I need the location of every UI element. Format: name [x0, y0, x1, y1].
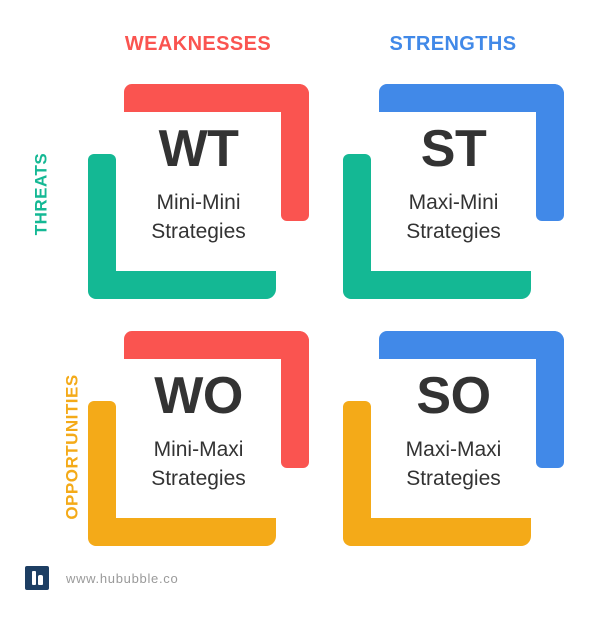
quadrant-content: WO Mini-Maxi Strategies: [84, 367, 313, 493]
quadrant-description: Maxi-Mini Strategies: [339, 188, 568, 246]
tows-matrix-diagram: WEAKNESSES STRENGTHS THREATS OPPORTUNITI…: [0, 0, 600, 619]
quadrant-wt: WT Mini-Mini Strategies: [84, 76, 313, 305]
quadrant-description-line1: Mini-Maxi: [84, 435, 313, 464]
quadrant-code: SO: [339, 367, 568, 425]
footer: www.hububble.co: [25, 566, 178, 590]
quadrant-description-line1: Maxi-Mini: [339, 188, 568, 217]
quadrant-description-line1: Maxi-Maxi: [339, 435, 568, 464]
quadrant-description-line1: Mini-Mini: [84, 188, 313, 217]
quadrant-content: WT Mini-Mini Strategies: [84, 120, 313, 246]
logo-bar-tall: [32, 571, 36, 585]
quadrant-code: ST: [339, 120, 568, 178]
row-header-threats-label: THREATS: [31, 153, 51, 236]
quadrant-st: ST Maxi-Mini Strategies: [339, 76, 568, 305]
quadrant-description-line2: Strategies: [84, 464, 313, 493]
corner-bracket-bottom-left: [88, 271, 276, 299]
quadrant-so: SO Maxi-Maxi Strategies: [339, 323, 568, 552]
quadrant-code: WT: [84, 120, 313, 178]
quadrant-description-line2: Strategies: [339, 217, 568, 246]
quadrant-description: Mini-Maxi Strategies: [84, 435, 313, 493]
corner-bracket-bottom-left: [343, 518, 531, 546]
row-header-threats: THREATS: [0, 184, 60, 204]
corner-bracket-bottom-left: [88, 518, 276, 546]
quadrant-content: ST Maxi-Mini Strategies: [339, 120, 568, 246]
quadrant-description-line2: Strategies: [339, 464, 568, 493]
hububble-logo-icon: [25, 566, 49, 590]
quadrant-description-line2: Strategies: [84, 217, 313, 246]
row-header-opportunities-label: OPPORTUNITIES: [63, 374, 83, 519]
logo-bar-short: [38, 575, 43, 585]
row-header-opportunities: OPPORTUNITIES: [0, 437, 60, 457]
quadrant-description: Maxi-Maxi Strategies: [339, 435, 568, 493]
footer-url: www.hububble.co: [66, 571, 178, 586]
corner-bracket-bottom-left: [343, 271, 531, 299]
column-header-strengths: STRENGTHS: [335, 31, 571, 57]
quadrant-wo: WO Mini-Maxi Strategies: [84, 323, 313, 552]
quadrant-description: Mini-Mini Strategies: [84, 188, 313, 246]
quadrant-content: SO Maxi-Maxi Strategies: [339, 367, 568, 493]
column-header-weaknesses: WEAKNESSES: [80, 31, 316, 57]
quadrant-code: WO: [84, 367, 313, 425]
